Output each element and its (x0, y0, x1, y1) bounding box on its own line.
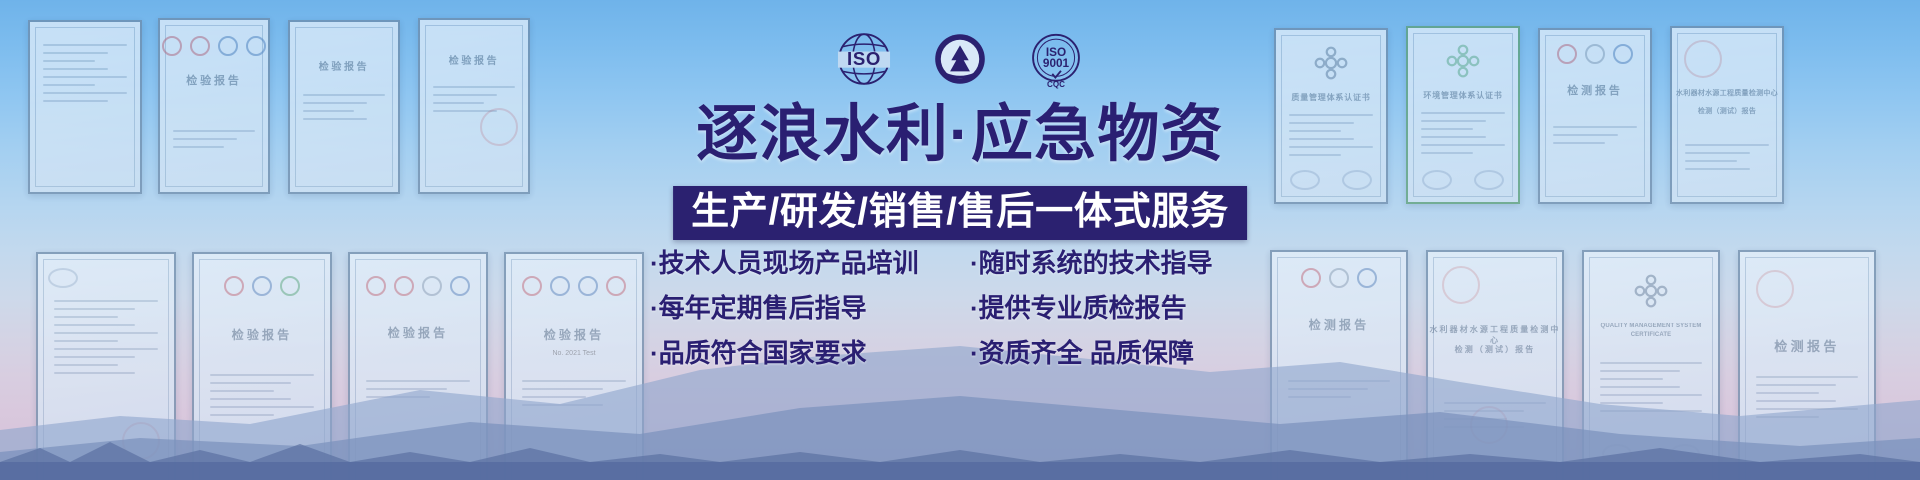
feature-item: ·技术人员现场产品培训 (650, 248, 950, 279)
certificate-logo-row (194, 276, 330, 296)
feature-item: ·随时系统的技术指导 (970, 248, 1270, 279)
certificate-text-lines (43, 44, 127, 108)
lab-logo-icon (246, 36, 266, 56)
official-seal-icon (48, 268, 78, 288)
feature-row: ·品质符合国家要求 ·资质齐全 品质保障 (650, 338, 1270, 369)
feature-item: ·每年定期售后指导 (650, 293, 950, 324)
certificate-title: 检验报告 (420, 52, 528, 67)
certificate-title: 检验报告 (160, 72, 268, 88)
certificate-title: 环境管理体系认证书 (1408, 90, 1518, 101)
certification-badges: ISO ISO 9001 CQC (833, 28, 1087, 90)
cqc-logo-icon (1557, 44, 1577, 64)
feature-row: ·每年定期售后指导 ·提供专业质检报告 (650, 293, 1270, 324)
iaf-seal-icon (1474, 170, 1504, 190)
promo-banner: 检验报告 检验报告 检验报告 (0, 0, 1920, 480)
page-title: 逐浪水利·应急物资 (580, 104, 1340, 166)
certificate-card: 检验报告 (158, 18, 270, 194)
quality-logo-icon (1585, 44, 1605, 64)
certificate-card: 检验报告 (418, 18, 530, 194)
ccc-logo-icon (190, 36, 210, 56)
iso-globe-badge-icon: ISO (833, 28, 895, 90)
svg-text:CQC: CQC (1047, 80, 1065, 89)
certificate-text-lines (173, 130, 255, 154)
banner-center-content: ISO ISO 9001 CQC 逐浪水利·应急物资 生产/研发/销售/售后一体 (580, 0, 1340, 480)
red-stamp-icon (480, 108, 518, 146)
certificate-logo-row (160, 36, 268, 56)
svg-text:9001: 9001 (1043, 57, 1070, 70)
feature-item: ·资质齐全 品质保障 (970, 338, 1270, 369)
iso-logo-icon (1613, 44, 1633, 64)
iso-logo-icon (550, 276, 570, 296)
atom-logo-icon (1634, 274, 1668, 308)
iso-14000-badge-icon (929, 28, 991, 90)
feature-row: ·技术人员现场产品培训 ·随时系统的技术指导 (650, 248, 1270, 279)
certificate-logo-row (1540, 44, 1650, 64)
cnas-seal-icon (1422, 170, 1452, 190)
subtitle-banner: 生产/研发/销售/售后一体式服务 (673, 186, 1247, 240)
cma-logo-icon (1442, 266, 1480, 304)
certificate-logo-row (350, 276, 486, 296)
cma-logo-icon (1684, 40, 1722, 78)
env-logo-icon (280, 276, 300, 296)
feature-list: ·技术人员现场产品培训 ·随时系统的技术指导 ·每年定期售后指导 ·提供专业质检… (650, 248, 1270, 384)
atom-logo-icon (1446, 44, 1480, 78)
feature-item: ·品质符合国家要求 (650, 338, 950, 369)
quality-logo-icon (422, 276, 442, 296)
cqc-logo-icon (162, 36, 182, 56)
certificate-text-lines (1685, 144, 1769, 176)
certificate-text-lines (1421, 112, 1505, 160)
certificate-card (28, 20, 142, 194)
certificate-subtitle: 检测（测试）报告 (1672, 106, 1782, 116)
certificate-text-lines (303, 94, 385, 126)
ccc-logo-icon (394, 276, 414, 296)
certificate-title: 检测报告 (1540, 82, 1650, 98)
certificate-text-lines (1553, 126, 1637, 150)
iaf-seal-icon (1342, 170, 1372, 190)
certificate-title: 检验报告 (290, 58, 398, 73)
iso-9001-cqc-badge-icon: ISO 9001 CQC (1025, 28, 1087, 90)
certificate-card: 检测报告 (1538, 28, 1652, 204)
iso-logo-icon (1357, 268, 1377, 288)
feature-item: ·提供专业质检报告 (970, 293, 1270, 324)
subtitle-text: 生产/研发/销售/售后一体式服务 (691, 193, 1229, 231)
iso-logo-icon (450, 276, 470, 296)
svg-text:ISO: ISO (847, 48, 881, 69)
certificate-card: 水利器材水源工程质量检测中心 检测（测试）报告 (1670, 26, 1784, 204)
certificate-card: 检验报告 (288, 20, 400, 194)
iso-logo-icon (252, 276, 272, 296)
iso-logo-icon (218, 36, 238, 56)
certificate-title: 水利器材水源工程质量检测中心 (1672, 88, 1782, 98)
cqc-logo-icon (522, 276, 542, 296)
cqc-logo-icon (224, 276, 244, 296)
certificate-card: 环境管理体系认证书 (1406, 26, 1520, 204)
cma-logo-icon (1756, 270, 1794, 308)
cqc-logo-icon (366, 276, 386, 296)
